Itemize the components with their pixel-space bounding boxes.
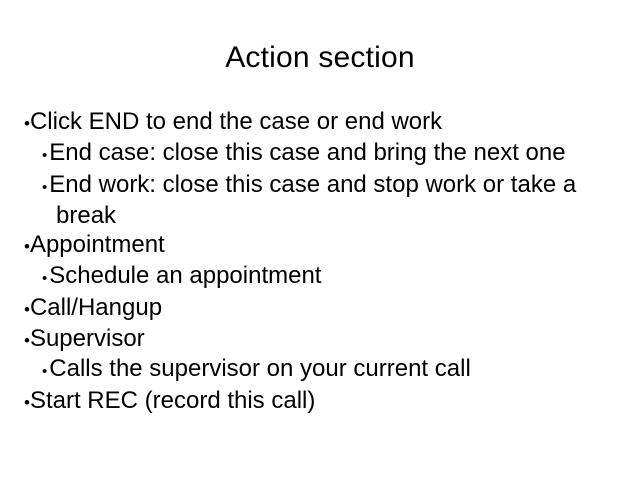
list-item-label: Start REC (record this call): [30, 387, 315, 414]
list-item-label: Calls the supervisor on your current cal…: [47, 355, 471, 382]
list-item: •Appointment: [24, 231, 624, 262]
slide-canvas: Action section •Click END to end the cas…: [0, 0, 640, 480]
list-item-label: Supervisor: [30, 325, 145, 352]
list-item-label: Click END to end the case or end work: [30, 108, 442, 135]
list-item-label: Call/Hangup: [30, 294, 162, 321]
page-title: Action section: [0, 40, 640, 76]
list-item-label: Appointment: [30, 231, 165, 258]
list-item-label: Schedule an appointment: [47, 262, 321, 289]
list-item: •Supervisor: [24, 325, 624, 356]
bullet-list: •Click END to end the case or end work •…: [24, 108, 624, 418]
list-item: •Start REC (record this call): [24, 387, 624, 418]
list-item: •Click END to end the case or end work: [24, 108, 624, 139]
list-item-label: End case: close this case and bring the …: [47, 139, 565, 166]
list-item: •Calls the supervisor on your current ca…: [24, 355, 624, 387]
list-item: •End work: close this case and stop work…: [24, 171, 624, 232]
list-item-label: End work: close this case and stop work …: [47, 171, 576, 230]
list-item: •End case: close this case and bring the…: [24, 139, 624, 171]
list-item: •Schedule an appointment: [24, 262, 624, 294]
list-item: •Call/Hangup: [24, 294, 624, 325]
